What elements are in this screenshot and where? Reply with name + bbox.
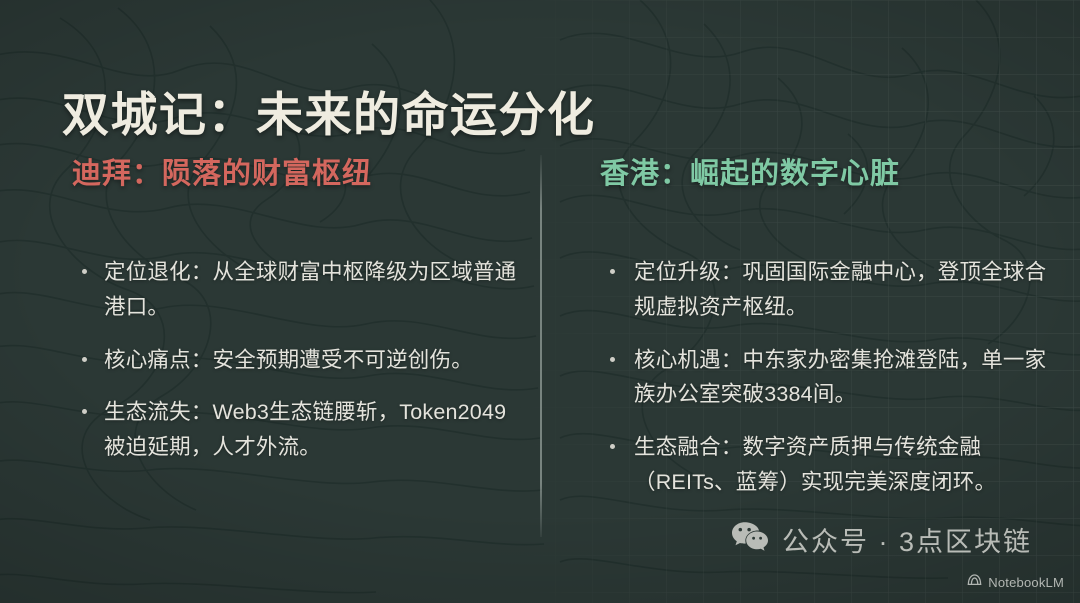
list-item: 核心痛点：安全预期遭受不可逆创伤。 [78,343,527,378]
column-dubai: 迪拜：陨落的财富枢纽 定位退化：从全球财富中枢降级为区域普通港口。 核心痛点：安… [72,150,527,192]
bullet-list-hongkong: 定位升级：巩固国际金融中心，登顶全球合规虚拟资产枢纽。 核心机遇：中东家办密集抢… [606,255,1055,500]
bullet-dot-icon [610,269,615,274]
list-item-text: 生态融合：数字资产质押与传统金融（REITs、蓝筹）实现完美深度闭环。 [634,435,996,494]
notebooklm-logo-icon [967,573,982,591]
notebooklm-watermark: NotebookLM [967,573,1064,591]
wechat-icon [731,521,769,558]
brand-label: 公众号 · 3点区块链 [782,520,1032,559]
bullet-list-dubai: 定位退化：从全球财富中枢降级为区域普通港口。 核心痛点：安全预期遭受不可逆创伤。… [78,255,527,465]
list-item: 生态融合：数字资产质押与传统金融（REITs、蓝筹）实现完美深度闭环。 [606,430,1055,500]
list-item-text: 生态流失：Web3生态链腰斩，Token2049被迫延期，人才外流。 [104,400,506,459]
bullet-dot-icon [610,444,615,449]
list-item: 核心机遇：中东家办密集抢滩登陆，单一家族办公室突破3384间。 [606,343,1055,413]
column-divider [540,155,542,537]
bullet-dot-icon [610,357,615,362]
column-heading-hongkong: 香港：崛起的数字心脏 [600,150,1055,192]
bullet-dot-icon [82,357,87,362]
bullet-dot-icon [82,269,87,274]
list-item-text: 核心痛点：安全预期遭受不可逆创伤。 [104,348,473,372]
list-item-text: 定位退化：从全球财富中枢降级为区域普通港口。 [104,260,516,319]
list-item-text: 核心机遇：中东家办密集抢滩登陆，单一家族办公室突破3384间。 [634,348,1046,407]
footer-brand: 公众号 · 3点区块链 [731,520,1032,559]
page-title: 双城记：未来的命运分化 [62,76,596,145]
list-item: 定位退化：从全球财富中枢降级为区域普通港口。 [78,255,527,325]
column-hongkong: 香港：崛起的数字心脏 定位升级：巩固国际金融中心，登顶全球合规虚拟资产枢纽。 核… [600,150,1055,192]
notebooklm-label: NotebookLM [988,575,1064,590]
column-heading-dubai: 迪拜：陨落的财富枢纽 [72,150,527,192]
list-item: 定位升级：巩固国际金融中心，登顶全球合规虚拟资产枢纽。 [606,255,1055,325]
list-item: 生态流失：Web3生态链腰斩，Token2049被迫延期，人才外流。 [78,395,527,465]
list-item-text: 定位升级：巩固国际金融中心，登顶全球合规虚拟资产枢纽。 [634,260,1046,319]
slide-canvas: 双城记：未来的命运分化 迪拜：陨落的财富枢纽 定位退化：从全球财富中枢降级为区域… [0,0,1080,603]
bullet-dot-icon [82,409,87,414]
